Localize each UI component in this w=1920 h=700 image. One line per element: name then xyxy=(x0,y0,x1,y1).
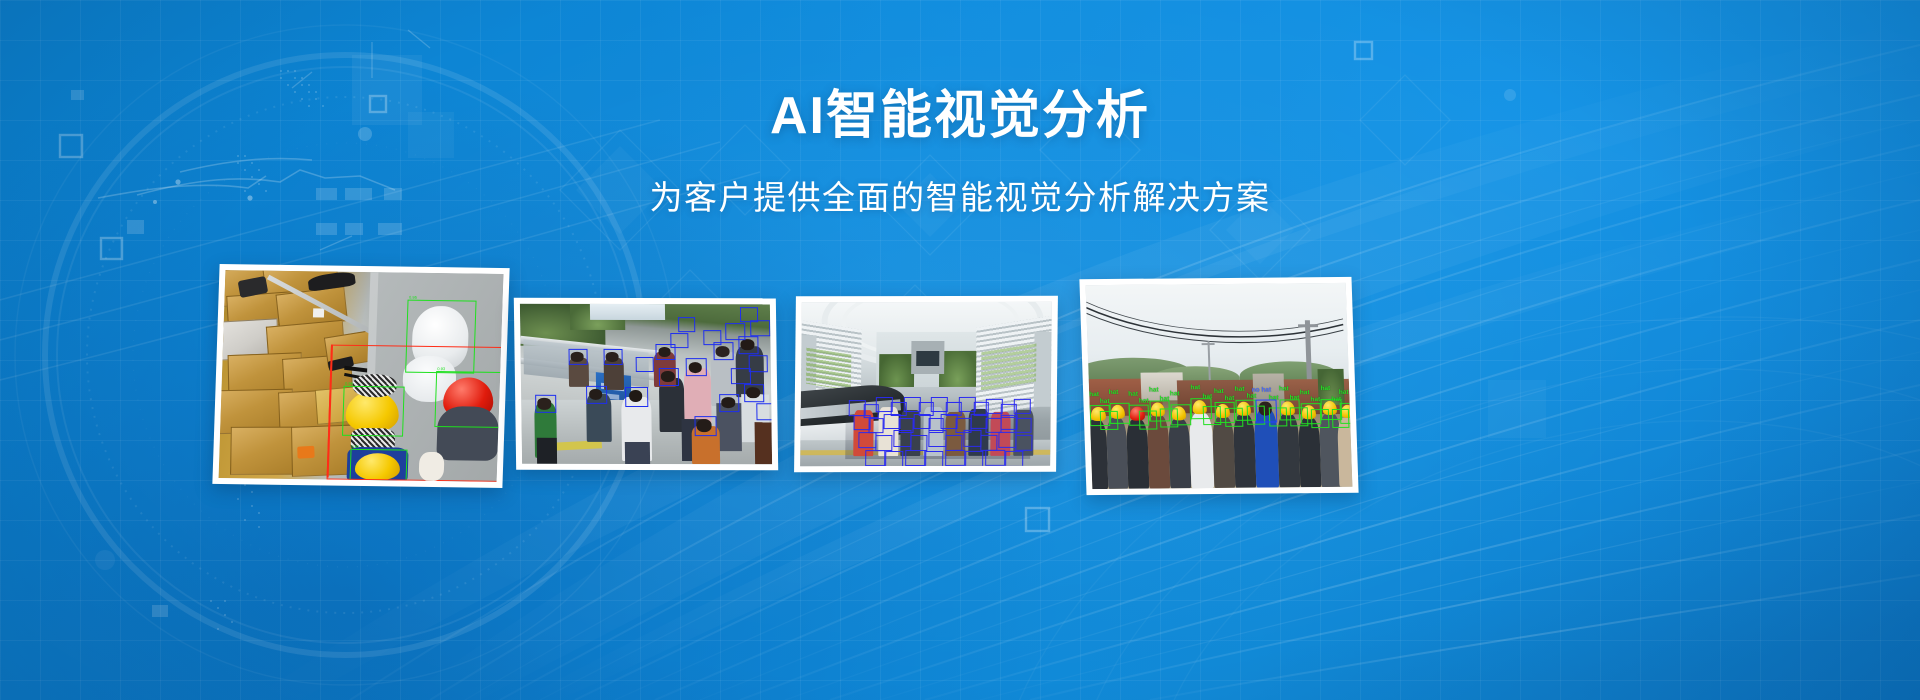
detection-label: hat xyxy=(1235,386,1245,393)
detection-label: hat xyxy=(1159,396,1169,403)
gallery-card-outdoor-hat-detection[interactable]: hat hat hat hat hat hat hat hat xyxy=(1079,277,1358,495)
detection-box xyxy=(731,368,751,384)
photo-frame: 0.95 0.93 0.96 xyxy=(219,270,504,482)
detection-box xyxy=(750,320,770,336)
gallery-card-warehouse-helmet-detection[interactable]: 0.95 0.93 0.96 xyxy=(212,264,509,488)
detection-box xyxy=(568,349,588,365)
detection-box xyxy=(625,387,649,407)
detection-label: hat xyxy=(1128,391,1138,398)
detection-box xyxy=(678,317,695,332)
detection-box-no-hat xyxy=(1256,400,1277,423)
gallery-card-footbridge-crowd-detection[interactable] xyxy=(514,298,778,470)
photo-outdoor-group: hat hat hat hat hat hat hat hat xyxy=(1086,283,1353,489)
detection-label: hat xyxy=(1214,388,1224,395)
photo-warehouse-overhead: 0.95 0.93 0.96 xyxy=(219,270,504,482)
detection-box xyxy=(703,330,721,346)
detection-label: hat xyxy=(1190,384,1200,391)
detection-label-no-hat: no hat xyxy=(1252,387,1272,394)
detection-label: hat xyxy=(1279,385,1289,392)
detection-label: hat xyxy=(1109,389,1119,396)
detection-box xyxy=(670,333,688,349)
photo-gallery: 0.95 0.93 0.96 xyxy=(0,258,1920,518)
detection-label: hat xyxy=(1320,385,1330,392)
detection-label: hat xyxy=(1310,396,1320,403)
detection-label: hat xyxy=(1100,398,1110,405)
detection-label: hat xyxy=(1202,393,1212,400)
detection-label: hat xyxy=(1331,396,1341,403)
detection-label: hat xyxy=(1247,393,1257,400)
detection-box xyxy=(636,357,654,373)
detection-box xyxy=(756,403,772,419)
detection-box xyxy=(740,307,758,322)
detection-box xyxy=(744,384,765,402)
detection-box xyxy=(694,416,716,436)
detection-label: hat xyxy=(1300,389,1310,396)
detection-box xyxy=(725,323,745,339)
photo-footbridge-walkway xyxy=(520,304,772,464)
detection-box xyxy=(535,395,556,413)
photo-train-platform xyxy=(800,302,1052,466)
detection-box xyxy=(658,368,679,386)
photo-frame xyxy=(520,304,772,464)
detection-box xyxy=(719,394,740,412)
ai-vision-banner: AI智能视觉分析 为客户提供全面的智能视觉分析解决方案 xyxy=(0,0,1920,700)
detection-box xyxy=(748,355,768,371)
banner-headings: AI智能视觉分析 为客户提供全面的智能视觉分析解决方案 xyxy=(0,88,1920,219)
detection-box xyxy=(586,385,607,403)
photo-frame xyxy=(800,302,1052,466)
detection-label: hat xyxy=(1290,394,1300,401)
detection-box xyxy=(686,358,707,376)
detection-box xyxy=(603,349,623,365)
detection-label: hat xyxy=(1224,395,1234,402)
photo-frame: hat hat hat hat hat hat hat hat xyxy=(1086,283,1353,489)
gallery-card-platform-crowd-density[interactable] xyxy=(794,296,1058,472)
page-subtitle: 为客户提供全面的智能视觉分析解决方案 xyxy=(0,171,1920,219)
detection-label: hat xyxy=(1149,387,1159,394)
detection-label: hat xyxy=(1089,391,1099,398)
page-title: AI智能视觉分析 xyxy=(0,88,1920,145)
detection-label: hat xyxy=(1170,390,1180,397)
detection-label: hat xyxy=(1139,398,1149,405)
